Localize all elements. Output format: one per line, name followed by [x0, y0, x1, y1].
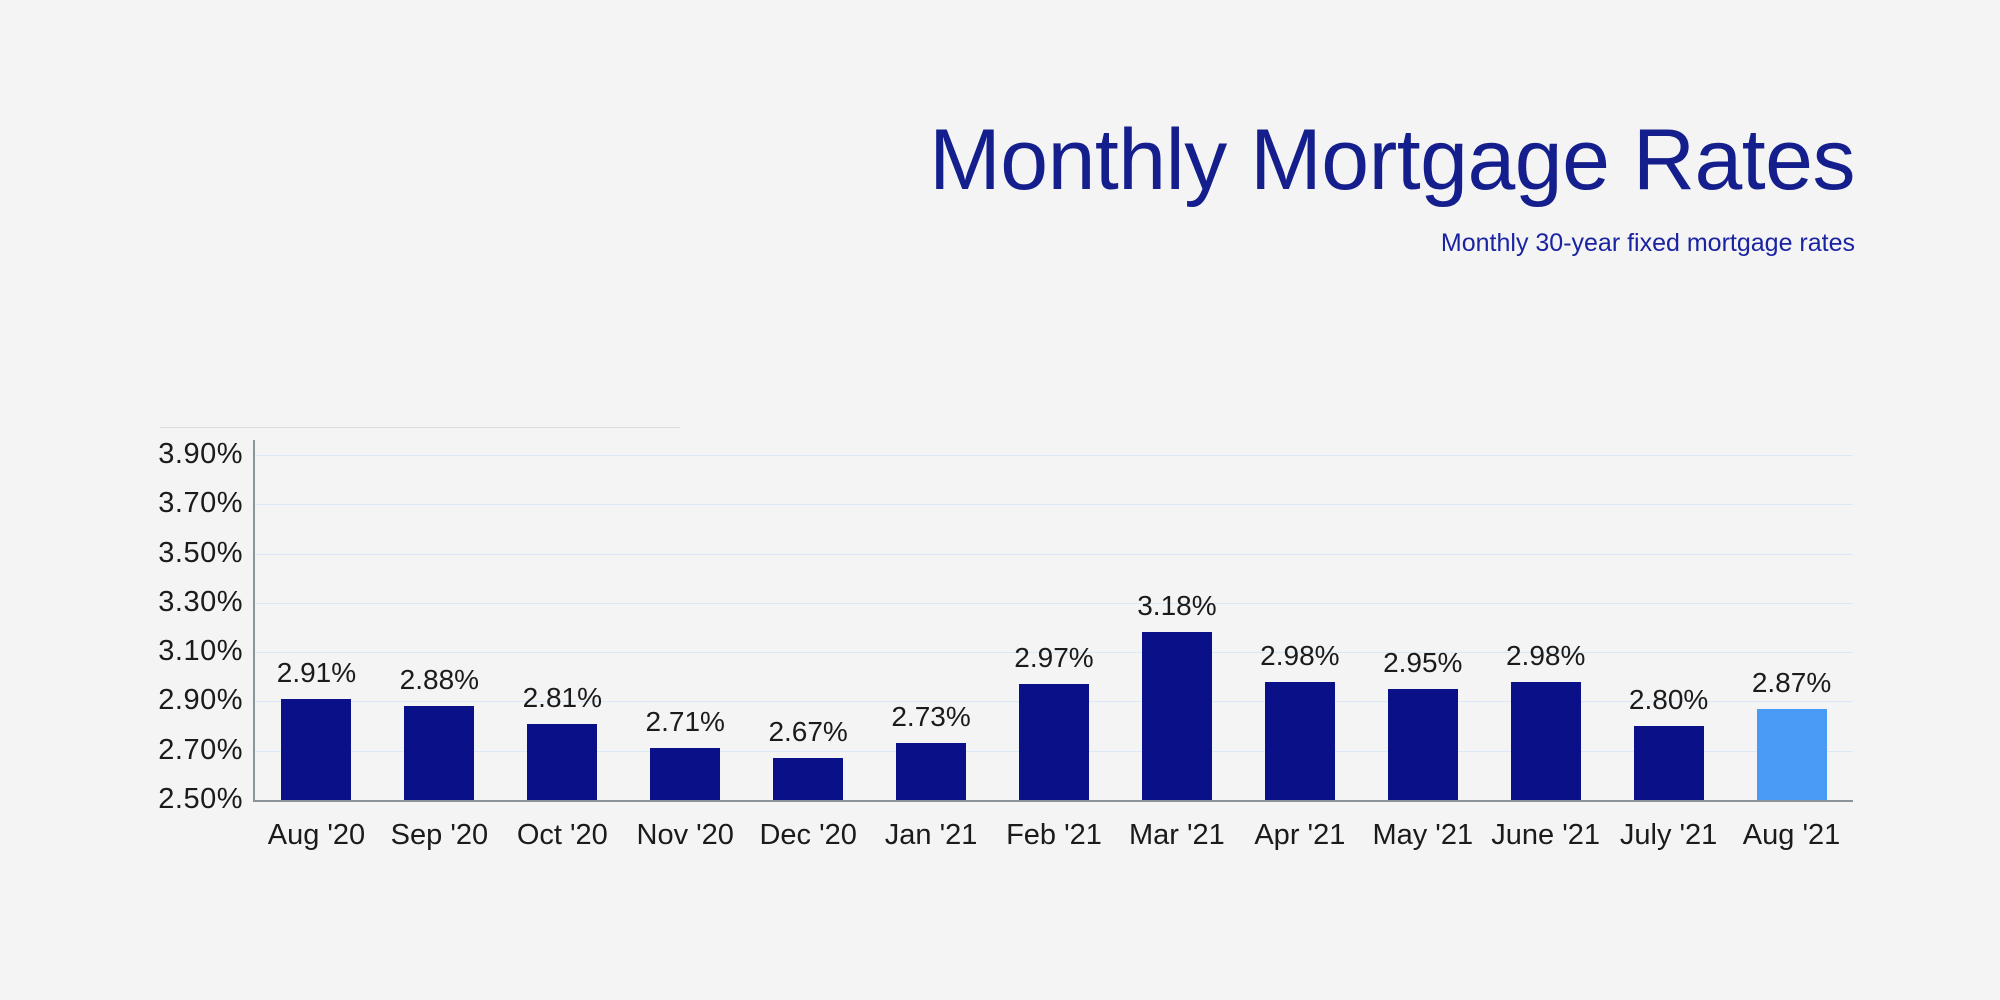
bar-value-label: 2.67% [768, 718, 847, 746]
bar[interactable] [1634, 726, 1704, 800]
y-axis-tick-label: 2.50% [0, 785, 243, 814]
bar-slot: 2.71% [650, 455, 720, 800]
x-axis-tick-label: Sep '20 [378, 818, 501, 852]
x-axis-tick-label: May '21 [1361, 818, 1484, 852]
bar-value-label: 2.87% [1752, 669, 1831, 697]
x-axis-line [253, 800, 1853, 802]
x-axis-tick-label: July '21 [1607, 818, 1730, 852]
bar-slot: 3.18% [1142, 455, 1212, 800]
bar-slot: 2.87% [1757, 455, 1827, 800]
y-axis-tick-label: 3.30% [0, 588, 243, 617]
bar[interactable] [650, 748, 720, 800]
y-axis-tick-label: 3.10% [0, 637, 243, 666]
y-axis-tick-label: 3.50% [0, 539, 243, 568]
bar-slot: 2.67% [773, 455, 843, 800]
bar[interactable] [1388, 689, 1458, 800]
x-axis-tick-label: Dec '20 [747, 818, 870, 852]
y-axis-tick-label: 2.70% [0, 736, 243, 765]
bar[interactable] [1142, 632, 1212, 800]
y-axis-tick-label: 2.90% [0, 686, 243, 715]
bar-slot: 2.95% [1388, 455, 1458, 800]
bar-slot: 2.98% [1265, 455, 1335, 800]
x-axis-tick-label: Aug '20 [255, 818, 378, 852]
bar-slot: 2.97% [1019, 455, 1089, 800]
bar-value-label: 2.73% [891, 703, 970, 731]
x-axis-tick-label: Apr '21 [1238, 818, 1361, 852]
bar-slot: 2.88% [404, 455, 474, 800]
bar-value-label: 2.98% [1260, 642, 1339, 670]
bar-value-label: 2.91% [277, 659, 356, 687]
bar-value-label: 2.80% [1629, 686, 1708, 714]
x-axis-tick-label: Nov '20 [624, 818, 747, 852]
x-axis-tick-label: June '21 [1484, 818, 1607, 852]
bar-slot: 2.80% [1634, 455, 1704, 800]
bar-value-label: 2.71% [646, 708, 725, 736]
x-axis-tick-labels: Aug '20Sep '20Oct '20Nov '20Dec '20Jan '… [255, 818, 1853, 868]
bar[interactable] [404, 706, 474, 800]
bar[interactable] [1265, 682, 1335, 800]
x-axis-tick-label: Oct '20 [501, 818, 624, 852]
x-axis-tick-label: Feb '21 [993, 818, 1116, 852]
bar[interactable] [1019, 684, 1089, 800]
bar[interactable] [773, 758, 843, 800]
bar[interactable] [896, 743, 966, 800]
bar[interactable] [1757, 709, 1827, 800]
y-axis-tick-label: 3.90% [0, 440, 243, 469]
bar-value-label: 2.81% [523, 684, 602, 712]
x-axis-tick-label: Mar '21 [1115, 818, 1238, 852]
bar-slot: 2.98% [1511, 455, 1581, 800]
bar-slot: 2.91% [281, 455, 351, 800]
bar[interactable] [1511, 682, 1581, 800]
bar-value-label: 2.95% [1383, 649, 1462, 677]
y-axis-tick-labels: 3.90%3.70%3.50%3.30%3.10%2.90%2.70%2.50% [0, 0, 243, 1000]
x-axis-tick-label: Aug '21 [1730, 818, 1853, 852]
y-axis-tick-label: 3.70% [0, 489, 243, 518]
bar-value-label: 2.98% [1506, 642, 1585, 670]
bars-group: 2.91%2.88%2.81%2.71%2.67%2.73%2.97%3.18%… [255, 455, 1853, 800]
bar[interactable] [527, 724, 597, 800]
bar-value-label: 2.97% [1014, 644, 1093, 672]
bar-slot: 2.73% [896, 455, 966, 800]
bar-value-label: 2.88% [400, 666, 479, 694]
x-axis-tick-label: Jan '21 [870, 818, 993, 852]
bar[interactable] [281, 699, 351, 800]
bar-slot: 2.81% [527, 455, 597, 800]
bar-value-label: 3.18% [1137, 592, 1216, 620]
chart-canvas: Monthly Mortgage Rates Monthly 30-year f… [0, 0, 2000, 1000]
plot-area: 3.90%3.70%3.50%3.30%3.10%2.90%2.70%2.50%… [0, 0, 2000, 1000]
